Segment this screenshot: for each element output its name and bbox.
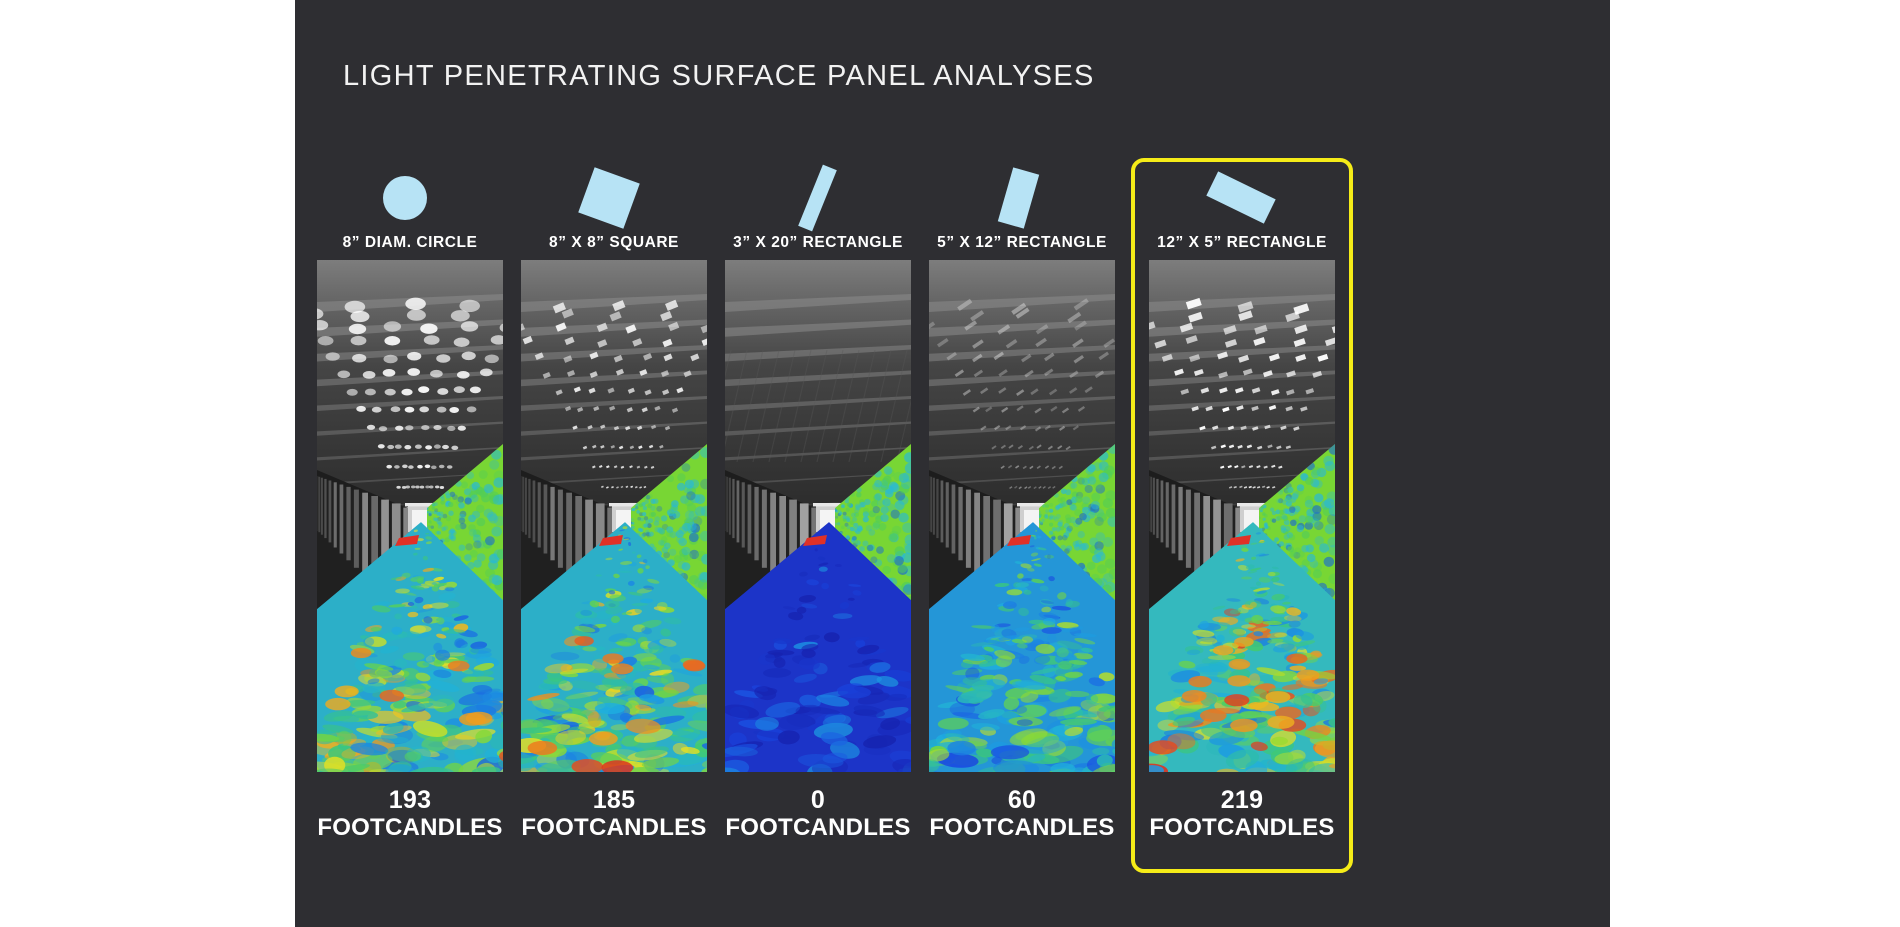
aperture-shape-wrap xyxy=(317,162,503,234)
panel-columns: 8” DIAM. CIRCLE193FOOTCANDLES8” X 8” SQU… xyxy=(295,150,1610,890)
panel-label-2: 8” X 8” SQUARE xyxy=(499,234,729,252)
panel-column-1[interactable]: 8” DIAM. CIRCLE193FOOTCANDLES xyxy=(317,150,549,890)
illuminance-render-2 xyxy=(521,260,707,772)
illuminance-render-4 xyxy=(929,260,1115,772)
footcandle-readout-1: 193FOOTCANDLES xyxy=(295,786,525,841)
footcandle-unit-1: FOOTCANDLES xyxy=(295,814,525,841)
footcandle-value-5: 219 xyxy=(1127,786,1357,814)
illuminance-render-5 xyxy=(1149,260,1335,772)
footcandle-readout-4: 60FOOTCANDLES xyxy=(907,786,1137,841)
footcandle-unit-5: FOOTCANDLES xyxy=(1127,814,1357,841)
page-title: LIGHT PENETRATING SURFACE PANEL ANALYSES xyxy=(343,60,1095,93)
analysis-board-stage: LIGHT PENETRATING SURFACE PANEL ANALYSES… xyxy=(0,0,1900,927)
footcandle-readout-3: 0FOOTCANDLES xyxy=(703,786,933,841)
footcandle-readout-5: 219FOOTCANDLES xyxy=(1127,786,1357,841)
footcandle-unit-3: FOOTCANDLES xyxy=(703,814,933,841)
wide-bar-shape-icon xyxy=(1206,171,1275,223)
illuminance-render-3 xyxy=(725,260,911,772)
dark-board: LIGHT PENETRATING SURFACE PANEL ANALYSES… xyxy=(295,0,1610,927)
footcandle-unit-4: FOOTCANDLES xyxy=(907,814,1137,841)
footcandle-value-1: 193 xyxy=(295,786,525,814)
panel-column-4[interactable]: 5” X 12” RECTANGLE60FOOTCANDLES xyxy=(929,150,1161,890)
illuminance-render-1 xyxy=(317,260,503,772)
aperture-shape-wrap xyxy=(521,162,707,234)
footcandle-readout-2: 185FOOTCANDLES xyxy=(499,786,729,841)
aperture-shape-wrap xyxy=(725,162,911,234)
footcandle-value-2: 185 xyxy=(499,786,729,814)
footcandle-unit-2: FOOTCANDLES xyxy=(499,814,729,841)
panel-label-5: 12” X 5” RECTANGLE xyxy=(1127,234,1357,252)
panel-column-3[interactable]: 3” X 20” RECTANGLE0FOOTCANDLES xyxy=(725,150,957,890)
panel-label-3: 3” X 20” RECTANGLE xyxy=(703,234,933,252)
narrow-bar-shape-icon xyxy=(798,165,837,232)
footcandle-value-4: 60 xyxy=(907,786,1137,814)
slanted-bar-shape-icon xyxy=(998,167,1039,228)
aperture-shape-wrap xyxy=(929,162,1115,234)
circle-shape-icon xyxy=(383,176,427,220)
panel-column-2[interactable]: 8” X 8” SQUARE185FOOTCANDLES xyxy=(521,150,753,890)
panel-column-5[interactable]: 12” X 5” RECTANGLE219FOOTCANDLES xyxy=(1149,150,1381,890)
panel-label-1: 8” DIAM. CIRCLE xyxy=(295,234,525,252)
square-shape-icon xyxy=(578,167,640,229)
panel-label-4: 5” X 12” RECTANGLE xyxy=(907,234,1137,252)
footcandle-value-3: 0 xyxy=(703,786,933,814)
aperture-shape-wrap xyxy=(1149,162,1335,234)
